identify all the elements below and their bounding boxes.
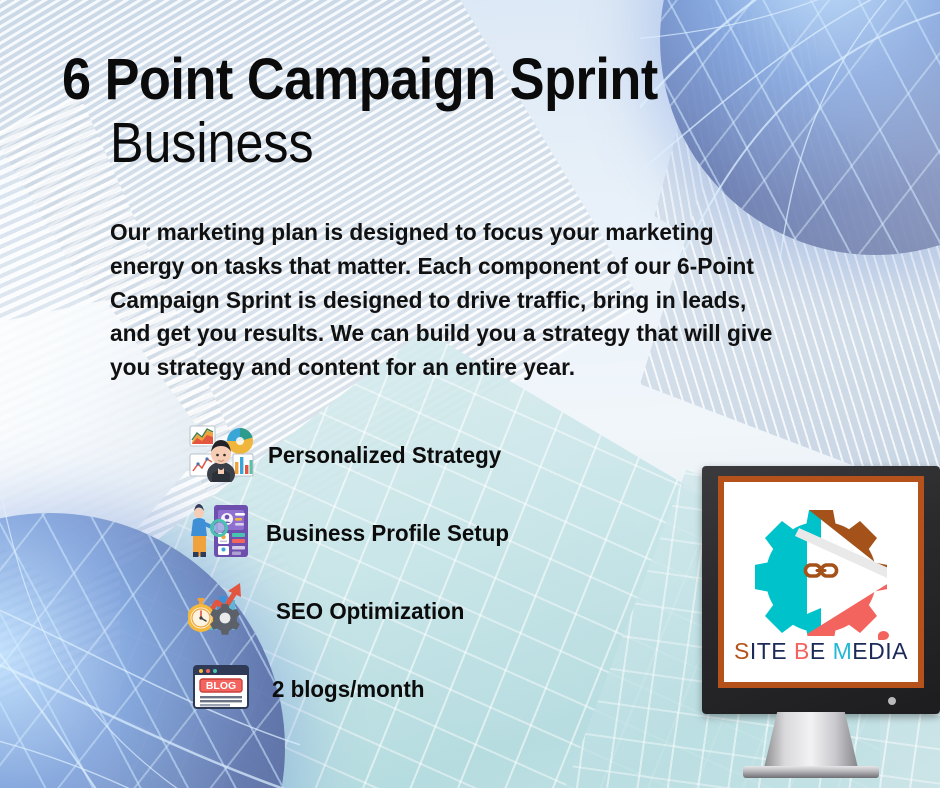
list-item: Personalized Strategy xyxy=(0,420,560,498)
monitor-stand-neck xyxy=(764,712,858,768)
body-paragraph: Our marketing plan is designed to focus … xyxy=(110,216,786,385)
stopwatch-growth-gear-icon xyxy=(188,580,254,638)
wordmark-part-s: S xyxy=(734,638,750,664)
feature-list: Personalized Strategy xyxy=(0,420,560,732)
feature-label: Personalized Strategy xyxy=(268,442,501,469)
brand-logo: SITE BE MEDIA xyxy=(724,482,918,682)
monitor-stand-base xyxy=(743,766,879,778)
list-item: Business Profile Setup xyxy=(0,498,560,576)
feature-label: SEO Optimization xyxy=(276,598,464,625)
feature-label: Business Profile Setup xyxy=(266,520,509,547)
list-item: SEO Optimization xyxy=(0,576,560,654)
analytics-woman-charts-icon xyxy=(188,424,254,482)
speech-bubble-icon xyxy=(878,631,889,640)
feature-label: 2 blogs/month xyxy=(272,676,424,703)
blog-browser-window-icon: BLOG xyxy=(188,658,254,716)
blog-badge-label: BLOG xyxy=(206,680,236,692)
list-item: BLOG 2 blogs/month xyxy=(0,654,560,732)
monitor-display: SITE BE MEDIA xyxy=(702,466,940,714)
gear-link-logo-icon xyxy=(755,504,887,636)
monitor-power-led-icon xyxy=(888,697,896,705)
title-line-secondary: Business xyxy=(110,115,737,172)
wordmark-part-edia: EDIA xyxy=(852,638,908,664)
brand-wordmark: SITE BE MEDIA xyxy=(734,638,908,665)
wordmark-part-m: M xyxy=(826,638,853,664)
title-line-primary: 6 Point Campaign Sprint xyxy=(62,52,746,109)
monitor-screen: SITE BE MEDIA xyxy=(718,476,924,688)
wordmark-part-ite: ITE xyxy=(750,638,787,664)
business-profile-search-icon xyxy=(188,502,254,560)
wordmark-part-b: B xyxy=(787,638,810,664)
wordmark-part-e: E xyxy=(810,638,826,664)
marketing-poster: 6 Point Campaign Sprint Business Our mar… xyxy=(0,0,940,788)
poster-content: 6 Point Campaign Sprint Business Our mar… xyxy=(0,0,940,788)
page-title: 6 Point Campaign Sprint Business xyxy=(62,52,822,172)
